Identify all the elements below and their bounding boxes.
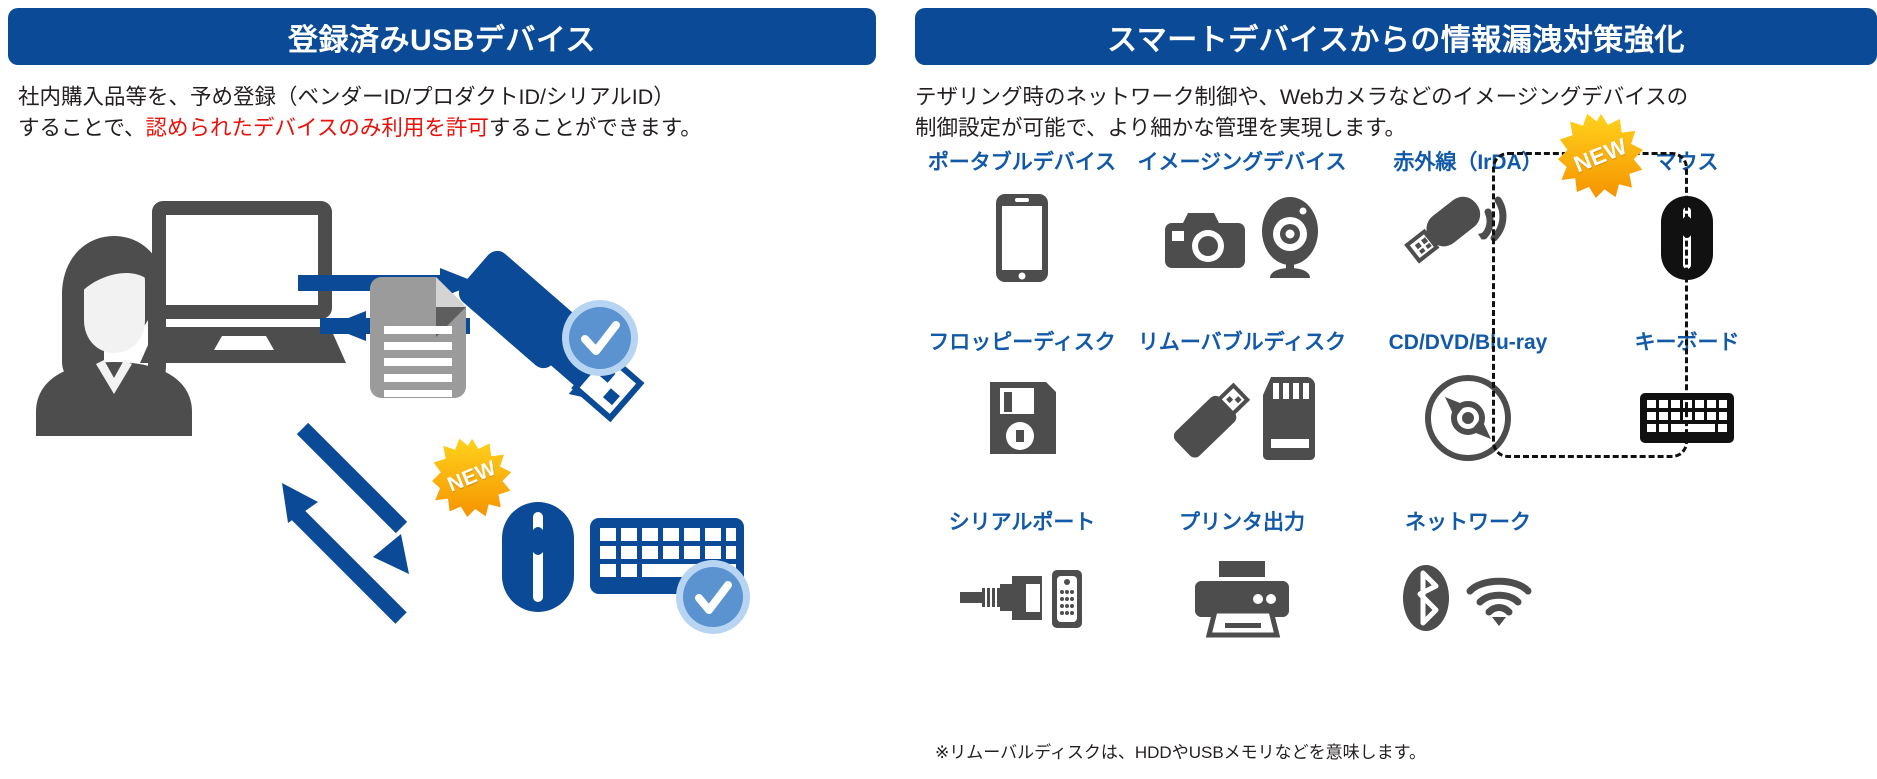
device-label: シリアルポート [917,510,1127,536]
mouse-icon-left [502,502,574,612]
right-footnote: ※リムーバルディスクは、HDDやUSBメモリなどを意味します。 [935,738,1426,763]
device-cell-removable[interactable]: リムーバブルディスク [1137,330,1347,466]
device-cell-portable[interactable]: ポータブルデバイス [917,150,1127,286]
left-panel: 登録済みUSBデバイス 社内購入品等を、予め登録（ベンダーID/プロダクトID/… [0,0,890,774]
device-label: イメージングデバイス [1137,150,1347,176]
device-label: ポータブルデバイス [917,150,1127,176]
serial-port-icon [960,566,1084,630]
device-label: ネットワーク [1363,510,1573,536]
device-row: ポータブルデバイス イメージングデバイス [915,150,1877,330]
right-panel: スマートデバイスからの情報漏洩対策強化 テザリング時のネットワーク制御や、Web… [915,0,1877,774]
device-label: フロッピーディスク [917,330,1127,356]
wifi-icon [1464,569,1534,627]
new-badge-left: NEW [432,437,512,517]
printer-icon [1195,559,1289,637]
new-badge-right: NEW [1558,112,1644,198]
device-cell-printer[interactable]: プリンタ出力 [1137,510,1347,646]
left-banner-title: 登録済みUSBデバイス [8,8,876,65]
device-label: プリンタ出力 [1137,510,1347,536]
device-cell-floppy[interactable]: フロッピーディスク [917,330,1127,466]
device-icons [1137,370,1347,466]
check-circle-usb [562,300,638,376]
device-cell-serial[interactable]: シリアルポート [917,510,1127,646]
device-cell-network[interactable]: ネットワーク [1363,510,1573,646]
device-icons [917,370,1127,466]
document-icon [370,277,466,398]
right-lead-text: テザリング時のネットワーク制御や、Webカメラなどのイメージングデバイスの 制御… [915,82,1795,144]
check-circle-keyboard [676,560,750,634]
device-row: フロッピーディスク リムーバブルディスク [915,330,1877,510]
sd-card-icon [1261,375,1317,461]
left-lead-highlight: 認められたデバイスのみ利用を許可 [146,116,489,140]
floppy-disk-icon [986,380,1058,456]
webcam-icon [1260,196,1320,280]
device-row: シリアルポート [915,510,1877,690]
device-label: リムーバブルディスク [1137,330,1347,356]
device-icons [917,550,1127,646]
camera-icon [1164,205,1246,271]
device-icons [1137,550,1347,646]
left-lead-part3: することができます。 [489,116,702,140]
device-icons [1363,550,1573,646]
device-cell-imaging[interactable]: イメージングデバイス [1137,150,1347,286]
bluetooth-icon [1402,563,1450,633]
usb-flash-drive-icon [1167,374,1247,462]
smartphone-icon [994,192,1050,284]
left-lead-text: 社内購入品等を、予め登録（ベンダーID/プロダクトID/シリアルID） すること… [18,82,878,144]
device-icons [917,190,1127,286]
right-banner-title: スマートデバイスからの情報漏洩対策強化 [915,8,1877,65]
arrow-diagonal-down [297,423,409,574]
slide-root: 登録済みUSBデバイス 社内購入品等を、予め登録（ベンダーID/プロダクトID/… [0,0,1877,774]
device-category-grid: ポータブルデバイス イメージングデバイス [915,150,1877,690]
device-icons [1137,190,1347,286]
